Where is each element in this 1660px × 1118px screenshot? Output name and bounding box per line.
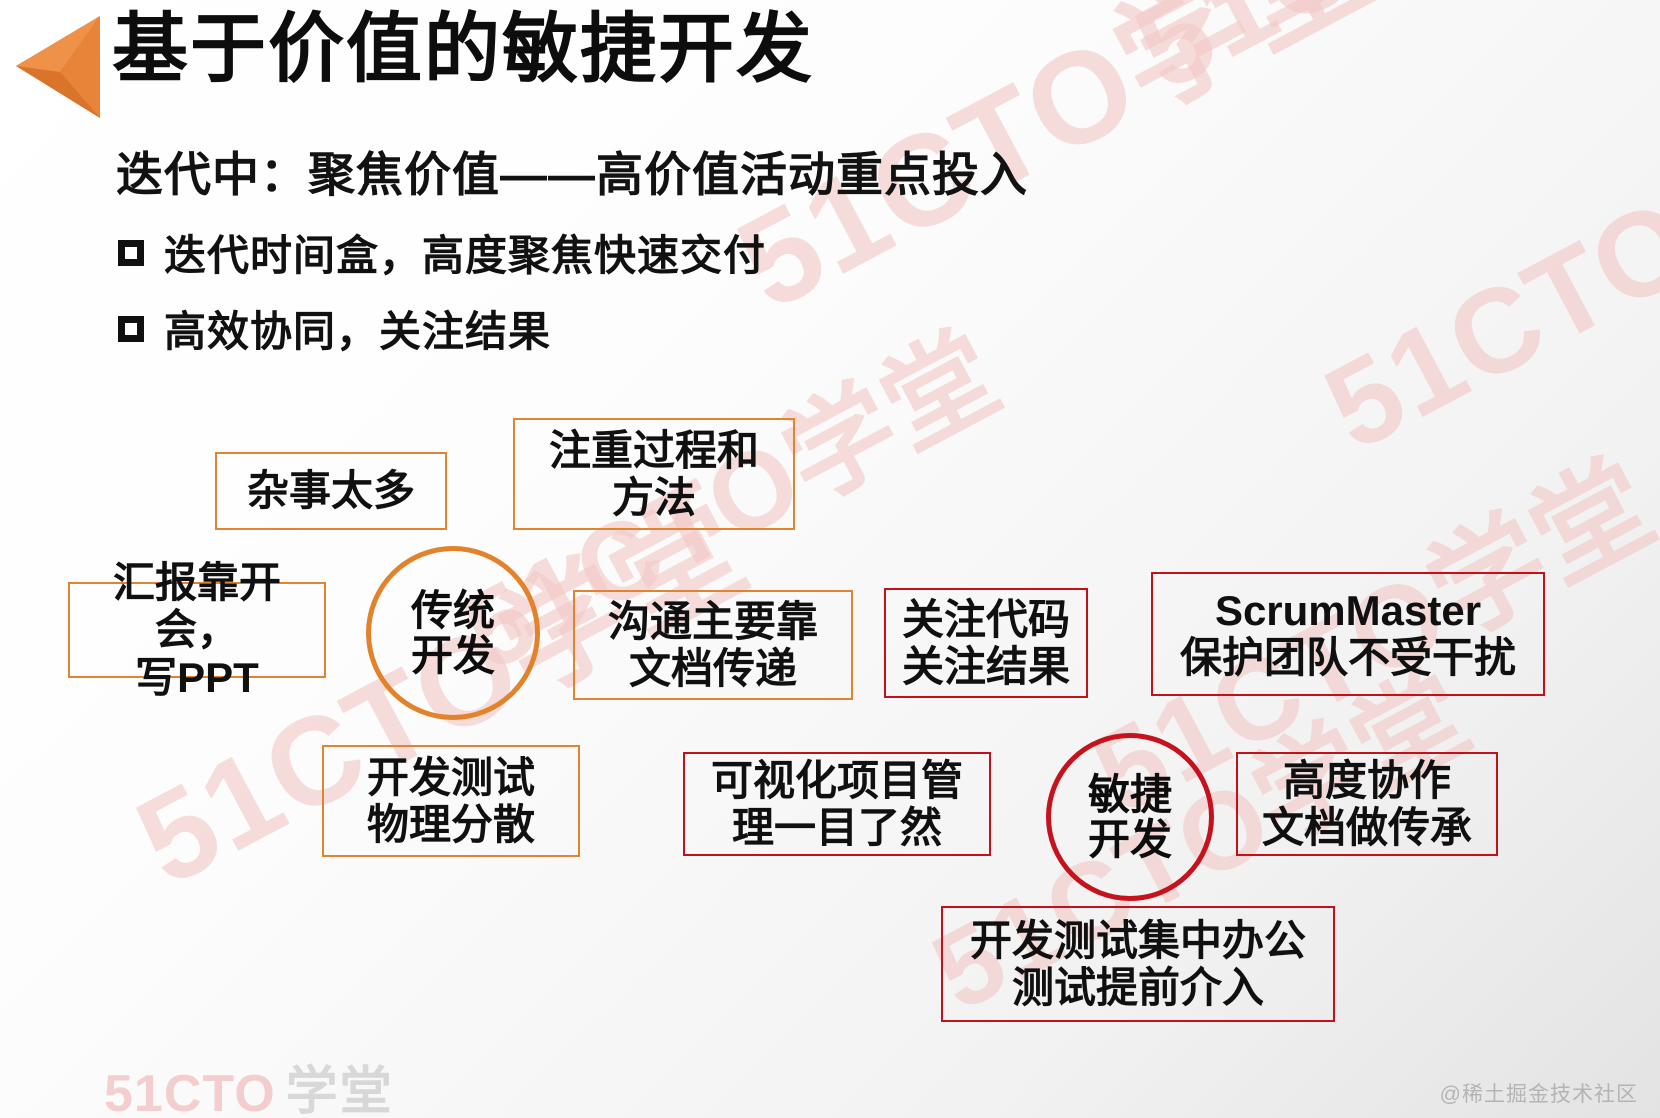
page-title: 基于价值的敏捷开发 [112,6,814,93]
page-subtitle: 迭代中：聚焦价值——高价值活动重点投入 [116,136,1028,205]
box-traditional-process-method: 注重过程和 方法 [513,418,795,530]
box-traditional-too-many-chores: 杂事太多 [215,452,447,530]
square-bullet-icon [118,240,144,266]
brand-51cto-xuetang: 51CTO 学堂 [104,1049,394,1118]
watermark-51cto: 51CTO学堂 [1290,30,1660,483]
box-traditional-doc-communication: 沟通主要靠 文档传递 [573,590,853,700]
bullet-label: 迭代时间盒，高度聚焦快速交付 [164,222,766,283]
circle-agile-development: 敏捷 开发 [1046,733,1214,901]
box-agile-scrummaster-protects-team: ScrumMaster 保护团队不受干扰 [1151,572,1545,696]
triangle-left-icon [8,12,104,122]
box-agile-high-collaboration-docs: 高度协作 文档做传承 [1236,752,1498,856]
box-agile-visual-project-management: 可视化项目管 理一目了然 [683,752,991,856]
slide-canvas: 51CTO学堂 51CTO学堂 51CTO学堂 51CTO学堂 51CTO学堂 … [0,0,1660,1118]
box-traditional-dev-test-dispersed: 开发测试 物理分散 [322,745,580,857]
bullet-item: 迭代时间盒，高度聚焦快速交付 [118,222,766,283]
square-bullet-icon [118,316,144,342]
brand-51cto-text: 51CTO [104,1064,276,1118]
bullet-item: 高效协同，关注结果 [118,298,551,359]
brand-xuetang-text: 学堂 [286,1049,394,1118]
box-traditional-report-meetings: 汇报靠开会， 写PPT [68,582,326,678]
circle-traditional-development: 传统 开发 [366,546,540,720]
box-agile-dev-test-colocated: 开发测试集中办公 测试提前介入 [941,906,1335,1022]
bullet-label: 高效协同，关注结果 [164,298,551,359]
watermark-51cto: 51CTO学堂 [1100,0,1660,124]
box-agile-focus-code-results: 关注代码 关注结果 [884,588,1088,698]
attribution-watermark: @稀土掘金技术社区 [1440,1078,1638,1108]
